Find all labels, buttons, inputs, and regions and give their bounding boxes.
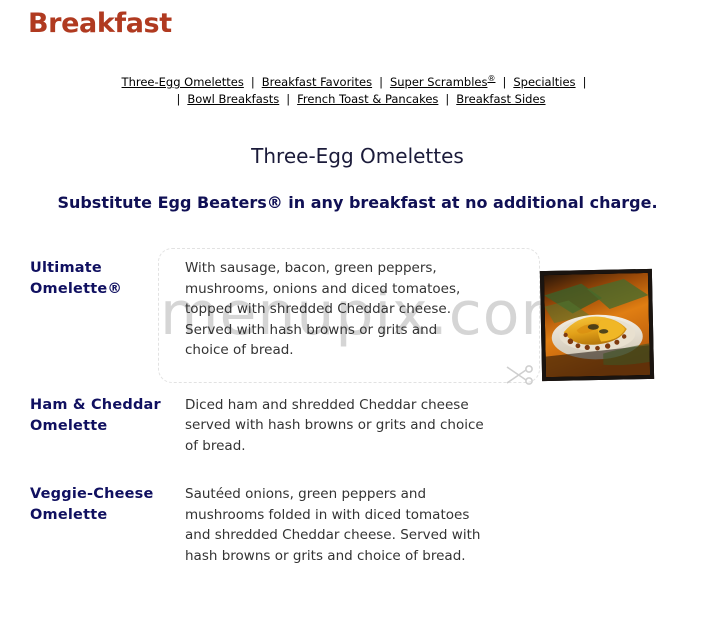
- nav-link-three-egg-omelettes[interactable]: Three-Egg Omelettes: [122, 75, 244, 89]
- nav-separator: |: [372, 75, 390, 89]
- nav-separator: |: [438, 92, 456, 106]
- section-subnote: Substitute Egg Beaters® in any breakfast…: [55, 190, 660, 215]
- nav-link-breakfast-sides[interactable]: Breakfast Sides: [456, 92, 545, 106]
- menu-item-name: Ham & Cheddar Omelette: [0, 395, 185, 437]
- menu-item-description: Sautéed onions, green peppers and mushro…: [185, 484, 485, 566]
- nav-separator-leading: |: [169, 92, 187, 106]
- nav-row-1: Three-Egg Omelettes|Breakfast Favorites|…: [0, 70, 715, 91]
- nav-link-super-scrambles[interactable]: Super Scrambles: [390, 75, 488, 89]
- category-nav: Three-Egg Omelettes|Breakfast Favorites|…: [0, 70, 715, 108]
- nav-link-bowl-breakfasts[interactable]: Bowl Breakfasts: [187, 92, 279, 106]
- menu-item[interactable]: Veggie-Cheese Omelette Sautéed onions, g…: [0, 484, 715, 566]
- nav-link-specialties[interactable]: Specialties: [513, 75, 575, 89]
- nav-link-breakfast-favorites[interactable]: Breakfast Favorites: [262, 75, 372, 89]
- nav-separator-trailing: |: [576, 75, 594, 89]
- omelette-plate-photo: [540, 269, 654, 381]
- nav-link-french-toast-pancakes[interactable]: French Toast & Pancakes: [297, 92, 438, 106]
- menu-item[interactable]: Ham & Cheddar Omelette Diced ham and shr…: [0, 395, 715, 457]
- menu-item-description: Diced ham and shredded Cheddar cheese se…: [185, 395, 485, 457]
- page-title: Breakfast: [28, 8, 172, 40]
- nav-separator: |: [244, 75, 262, 89]
- section-heading: Three-Egg Omelettes: [0, 143, 715, 169]
- menu-item-name: Ultimate Omelette®: [0, 258, 185, 300]
- menu-item-name: Veggie-Cheese Omelette: [0, 484, 185, 526]
- nav-separator: |: [495, 75, 513, 89]
- nav-row-2: |Bowl Breakfasts|French Toast & Pancakes…: [0, 91, 715, 108]
- nav-separator: |: [279, 92, 297, 106]
- menu-item-description: With sausage, bacon, green peppers, mush…: [185, 258, 485, 361]
